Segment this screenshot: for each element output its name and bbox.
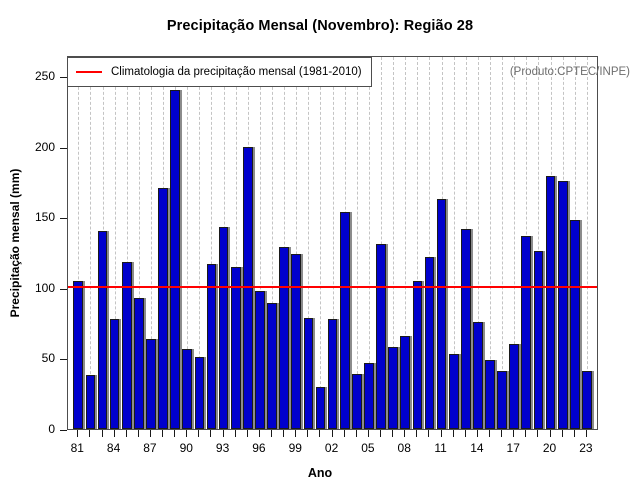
x-tick-mark xyxy=(138,430,139,437)
y-tick-label: 150 xyxy=(35,210,55,224)
chart-title: Precipitação Mensal (Novembro): Região 2… xyxy=(0,18,640,34)
x-tick-mark xyxy=(186,430,187,437)
y-tick-label: 250 xyxy=(35,69,55,83)
x-tick-mark xyxy=(114,430,115,437)
x-tick-mark xyxy=(162,430,163,437)
x-tick-mark xyxy=(247,430,248,437)
credit-annotation: (Produto:CPTEC/INPE) xyxy=(510,66,630,78)
x-tick-mark xyxy=(525,430,526,437)
x-tick-mark xyxy=(453,430,454,437)
y-tick-label: 50 xyxy=(42,351,55,365)
x-tick-mark xyxy=(223,430,224,437)
y-tick-mark xyxy=(60,148,67,149)
x-tick-mark xyxy=(356,430,357,437)
y-tick-mark xyxy=(60,430,67,431)
x-tick-label: 93 xyxy=(208,441,238,455)
x-tick-mark xyxy=(259,430,260,437)
x-tick-mark xyxy=(489,430,490,437)
x-tick-label: 23 xyxy=(571,441,601,455)
x-tick-mark xyxy=(477,430,478,437)
x-tick-mark xyxy=(102,430,103,437)
legend-line-swatch xyxy=(76,71,102,73)
y-tick-label: 0 xyxy=(48,422,55,436)
x-tick-mark xyxy=(319,430,320,437)
x-tick-label: 11 xyxy=(426,441,456,455)
x-tick-mark xyxy=(307,430,308,437)
x-tick-mark xyxy=(537,430,538,437)
reference-line xyxy=(68,286,597,288)
legend-item-label: Climatologia da precipitação mensal (198… xyxy=(111,66,362,78)
y-tick-mark xyxy=(60,289,67,290)
x-tick-label: 84 xyxy=(99,441,129,455)
x-tick-label: 02 xyxy=(317,441,347,455)
plot-area xyxy=(67,56,598,430)
x-tick-label: 96 xyxy=(244,441,274,455)
x-tick-mark xyxy=(283,430,284,437)
x-tick-mark xyxy=(126,430,127,437)
x-tick-mark xyxy=(271,430,272,437)
x-tick-mark xyxy=(428,430,429,437)
x-tick-mark xyxy=(235,430,236,437)
x-tick-label: 08 xyxy=(389,441,419,455)
x-tick-label: 87 xyxy=(135,441,165,455)
x-tick-mark xyxy=(441,430,442,437)
chart-container: Precipitação Mensal (Novembro): Região 2… xyxy=(0,0,640,500)
x-tick-mark xyxy=(404,430,405,437)
climatology-reference-line xyxy=(68,57,597,429)
x-tick-mark xyxy=(416,430,417,437)
x-tick-mark xyxy=(174,430,175,437)
x-tick-mark xyxy=(150,430,151,437)
x-tick-mark xyxy=(198,430,199,437)
x-tick-mark xyxy=(465,430,466,437)
x-tick-mark xyxy=(344,430,345,437)
y-tick-label: 100 xyxy=(35,281,55,295)
y-tick-label: 200 xyxy=(35,140,55,154)
x-tick-label: 17 xyxy=(498,441,528,455)
y-axis-title: Precipitação mensal (mm) xyxy=(8,169,22,318)
y-tick-mark xyxy=(60,218,67,219)
x-tick-label: 99 xyxy=(280,441,310,455)
x-tick-label: 05 xyxy=(353,441,383,455)
y-tick-mark xyxy=(60,359,67,360)
x-tick-mark xyxy=(513,430,514,437)
x-tick-mark xyxy=(574,430,575,437)
legend: Climatologia da precipitação mensal (198… xyxy=(67,57,372,87)
x-tick-mark xyxy=(550,430,551,437)
x-tick-mark xyxy=(501,430,502,437)
x-tick-mark xyxy=(332,430,333,437)
y-tick-mark xyxy=(60,77,67,78)
x-tick-label: 90 xyxy=(171,441,201,455)
x-tick-mark xyxy=(392,430,393,437)
x-tick-label: 81 xyxy=(62,441,92,455)
x-axis-title: Ano xyxy=(0,466,640,480)
x-tick-mark xyxy=(295,430,296,437)
x-tick-mark xyxy=(368,430,369,437)
x-tick-label: 20 xyxy=(535,441,565,455)
x-tick-mark xyxy=(562,430,563,437)
x-tick-mark xyxy=(380,430,381,437)
x-tick-mark xyxy=(77,430,78,437)
x-tick-mark xyxy=(89,430,90,437)
x-tick-mark xyxy=(586,430,587,437)
x-tick-label: 14 xyxy=(462,441,492,455)
x-tick-mark xyxy=(210,430,211,437)
